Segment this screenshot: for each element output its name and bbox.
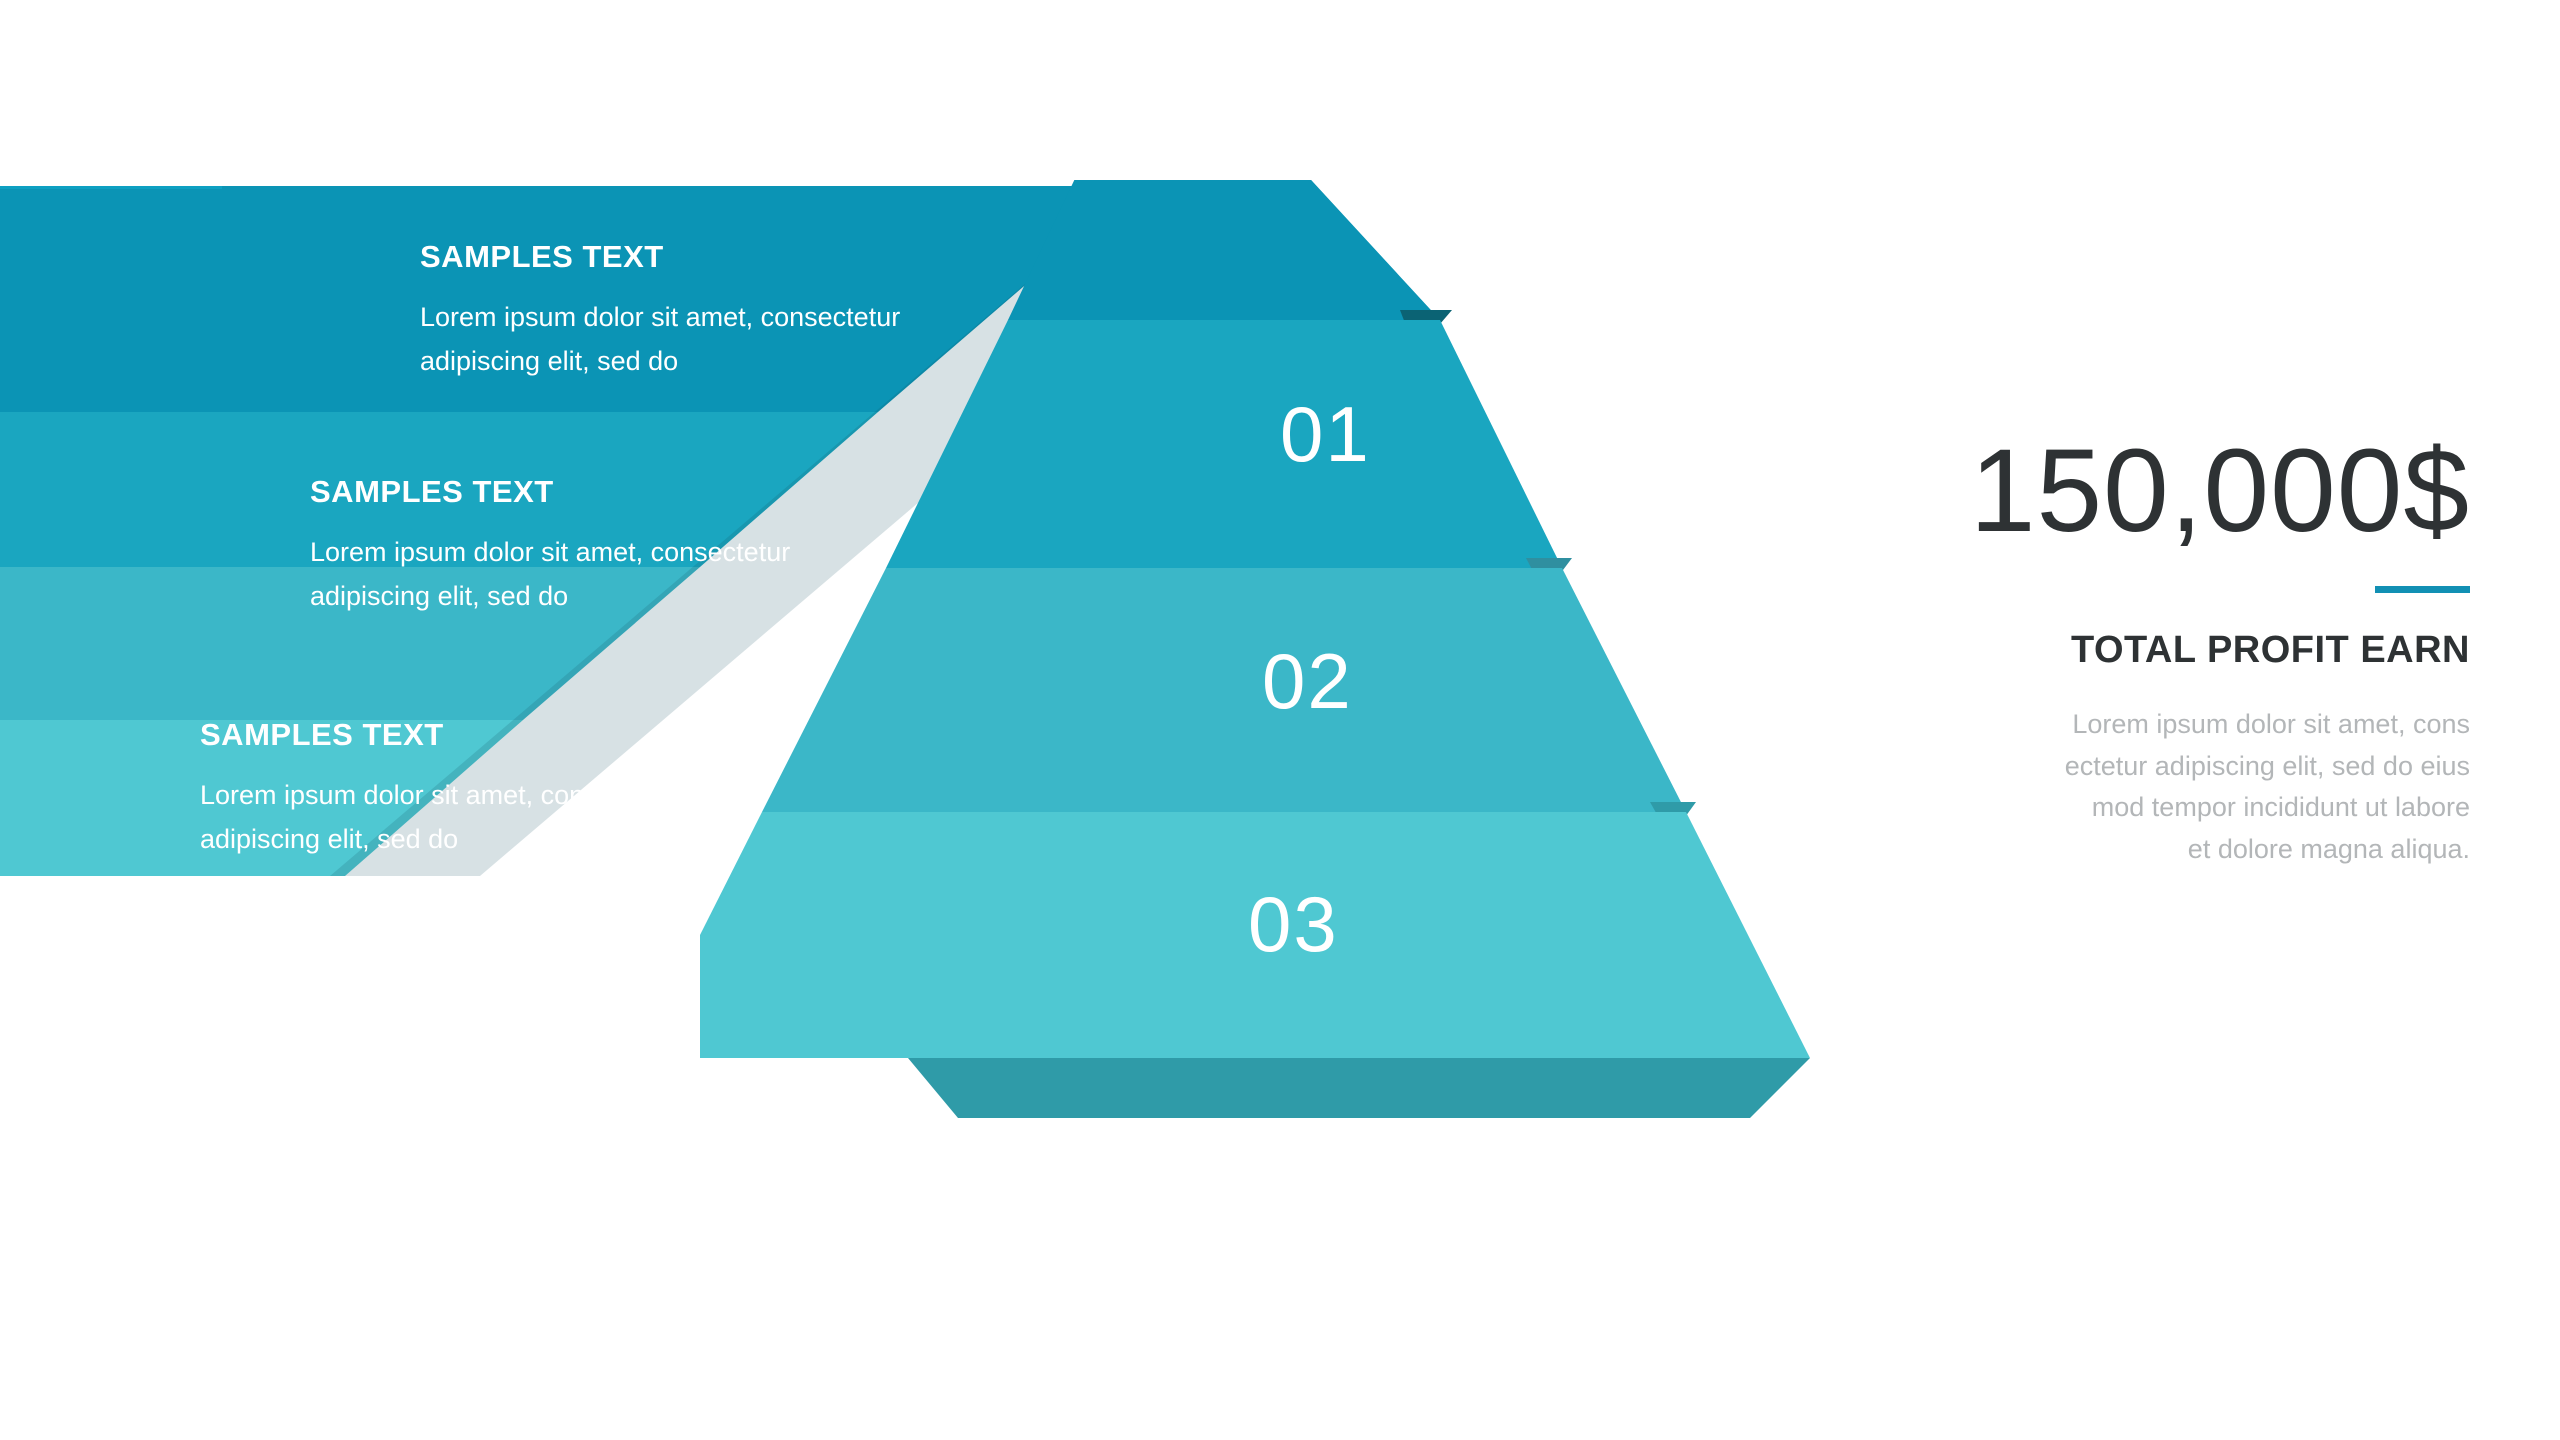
pyramid-tier-1-number: 01 bbox=[1280, 395, 1371, 473]
pyramid-tier-3-number: 03 bbox=[1248, 885, 1339, 963]
pyramid-tier-3 bbox=[762, 568, 1686, 812]
total-profit-value: 150,000$ bbox=[1770, 430, 2470, 554]
band-4-body: Lorem ipsum dolor sit amet, consectetur … bbox=[98, 1017, 578, 1104]
band-4-title: SAMPLES TEXT bbox=[98, 962, 578, 993]
band-3-title: SAMPLES TEXT bbox=[200, 719, 680, 750]
band-1-top-highlight bbox=[0, 186, 222, 189]
band-1-title: SAMPLES TEXT bbox=[420, 241, 900, 272]
band-item-4: SAMPLES TEXT Lorem ipsum dolor sit amet,… bbox=[98, 962, 578, 1104]
pyramid-tier-2-number: 02 bbox=[1262, 642, 1353, 720]
pyramid-tier-1 bbox=[1008, 180, 1440, 320]
band-item-1: SAMPLES TEXT Lorem ipsum dolor sit amet,… bbox=[420, 241, 900, 383]
accent-rule bbox=[2375, 586, 2470, 593]
band-3-body: Lorem ipsum dolor sit amet, consectetur … bbox=[200, 774, 680, 861]
band-1-body: Lorem ipsum dolor sit amet, consectetur … bbox=[420, 296, 900, 383]
pyramid-tier-4-number: 04 bbox=[1228, 1130, 1319, 1208]
band-item-2: SAMPLES TEXT Lorem ipsum dolor sit amet,… bbox=[310, 476, 790, 618]
band-2-body: Lorem ipsum dolor sit amet, consectetur … bbox=[310, 531, 790, 618]
base-shadow bbox=[908, 1058, 1810, 1118]
band-2-title: SAMPLES TEXT bbox=[310, 476, 790, 507]
stat-panel: 150,000$ TOTAL PROFIT EARN Lorem ipsum d… bbox=[1770, 430, 2470, 871]
band-item-3: SAMPLES TEXT Lorem ipsum dolor sit amet,… bbox=[200, 719, 680, 861]
infographic-slide: SAMPLES TEXT Lorem ipsum dolor sit amet,… bbox=[0, 0, 2560, 1440]
pyramid-tier-2 bbox=[886, 320, 1562, 568]
total-profit-description: Lorem ipsum dolor sit amet, cons ectetur… bbox=[1770, 704, 2470, 871]
total-profit-label: TOTAL PROFIT EARN bbox=[1770, 630, 2470, 672]
